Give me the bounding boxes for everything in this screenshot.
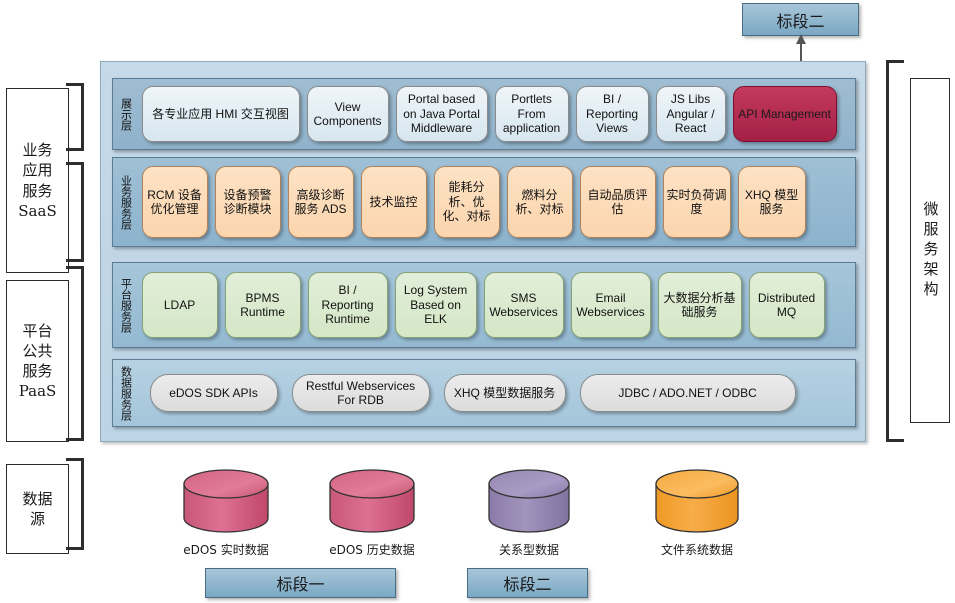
layer-platform-services: 平台服务层 LDAP BPMS Runtime BI / Reporting R… <box>112 262 856 348</box>
node-bigdata-analysis-base-service[interactable]: 大数据分析基础服务 <box>658 272 742 338</box>
node-hmi-interactive-view[interactable]: 各专业应用 HMI 交互视图 <box>142 86 300 142</box>
node-rcm-equipment-optimization[interactable]: RCM 设备优化管理 <box>142 166 208 238</box>
bottom-tag-bid-section-two: 标段二 <box>467 568 588 598</box>
cat-line: 平台 <box>19 321 57 341</box>
node-ldap[interactable]: LDAP <box>142 272 218 338</box>
layer-presentation: 展示层 各专业应用 HMI 交互视图 View Components Porta… <box>112 78 856 150</box>
bottom-tag-one-label: 标段一 <box>276 571 324 595</box>
cat-line: 业务 <box>18 140 56 160</box>
cat-line: 服务 <box>19 361 57 381</box>
layer-platform-services-label: 平台服务层 <box>120 278 132 333</box>
layer-business-services-label: 业务服务层 <box>120 175 132 230</box>
node-edos-sdk-apis[interactable]: eDOS SDK APIs <box>150 374 278 412</box>
category-business-app-services-label: 业务 应用 服务 SaaS <box>18 140 56 221</box>
node-automatic-quality-assessment[interactable]: 自动品质评估 <box>580 166 656 238</box>
cylinder-edos-history-data[interactable] <box>328 468 416 536</box>
bracket-microservice <box>886 60 904 442</box>
cat-line: 源 <box>22 509 52 529</box>
bracket-platform <box>66 266 84 441</box>
node-distributed-mq[interactable]: Distributed MQ <box>749 272 825 338</box>
node-jdbc-adonet-odbc[interactable]: JDBC / ADO.NET / ODBC <box>580 374 796 412</box>
node-email-webservices[interactable]: Email Webservices <box>571 272 651 338</box>
node-portal-java-middleware[interactable]: Portal based on Java Portal Middleware <box>396 86 488 142</box>
bracket-business <box>66 162 84 262</box>
node-equipment-early-warning-diagnosis[interactable]: 设备预警诊断模块 <box>215 166 281 238</box>
cat-line: SaaS <box>18 201 56 221</box>
bracket-presentation <box>66 83 84 151</box>
node-log-system-elk[interactable]: Log System Based on ELK <box>395 272 477 338</box>
node-fuel-analysis-benchmark[interactable]: 燃料分析、对标 <box>507 166 573 238</box>
category-business-app-services: 业务 应用 服务 SaaS <box>6 88 69 273</box>
node-sms-webservices[interactable]: SMS Webservices <box>484 272 564 338</box>
cat-line: 应用 <box>18 160 56 180</box>
node-advanced-diagnostic-ads[interactable]: 高级诊断服务 ADS <box>288 166 354 238</box>
cylinder-file-system-data[interactable] <box>654 468 740 536</box>
node-technical-monitoring[interactable]: 技术监控 <box>361 166 427 238</box>
layer-presentation-nodes: 各专业应用 HMI 交互视图 View Components Portal ba… <box>136 79 855 149</box>
layer-business-services: 业务服务层 RCM 设备优化管理 设备预警诊断模块 高级诊断服务 ADS 技术监… <box>112 157 856 247</box>
cylinder-edos-realtime-data[interactable] <box>182 468 270 536</box>
architecture-main-panel: 展示层 各专业应用 HMI 交互视图 View Components Porta… <box>100 61 866 442</box>
layer-data-services: 数据服务层 eDOS SDK APIs Restful Webservices … <box>112 359 856 427</box>
bottom-tag-bid-section-one: 标段一 <box>205 568 396 598</box>
node-xhq-model-service[interactable]: XHQ 模型服务 <box>738 166 806 238</box>
microservice-architecture-label: 微服务架构 <box>923 201 938 301</box>
layer-presentation-label: 展示层 <box>120 98 132 131</box>
node-view-components[interactable]: View Components <box>307 86 389 142</box>
cylinder-edos-realtime-data-label: eDOS 实时数据 <box>160 541 292 558</box>
top-tag-bid-section-two: 标段二 <box>742 3 859 36</box>
layer-data-services-nodes: eDOS SDK APIs Restful Webservices For RD… <box>136 360 855 426</box>
layer-platform-services-nodes: LDAP BPMS Runtime BI / Reporting Runtime… <box>136 263 855 347</box>
node-js-libs-angular-react[interactable]: JS Libs Angular / React <box>656 86 726 142</box>
bracket-datasource <box>66 458 84 550</box>
node-xhq-model-data-service[interactable]: XHQ 模型数据服务 <box>444 374 566 412</box>
category-data-sources-label: 数据 源 <box>22 489 52 530</box>
cylinder-edos-history-data-label: eDOS 历史数据 <box>306 541 438 558</box>
node-realtime-load-dispatch[interactable]: 实时负荷调度 <box>663 166 731 238</box>
node-bi-reporting-runtime[interactable]: BI / Reporting Runtime <box>308 272 388 338</box>
microservice-architecture-box: 微服务架构 <box>910 78 950 423</box>
node-bpms-runtime[interactable]: BPMS Runtime <box>225 272 301 338</box>
cat-line: 公共 <box>19 341 57 361</box>
cylinder-file-system-data-label: 文件系统数据 <box>630 541 764 558</box>
node-bi-reporting-views[interactable]: BI / Reporting Views <box>576 86 649 142</box>
bottom-tag-two-label: 标段二 <box>503 571 551 595</box>
category-platform-public-services-label: 平台 公共 服务 PaaS <box>19 321 57 402</box>
category-platform-public-services: 平台 公共 服务 PaaS <box>6 280 69 442</box>
cat-line: PaaS <box>19 381 57 401</box>
node-portlets-from-application[interactable]: Portlets From application <box>495 86 569 142</box>
layer-business-services-nodes: RCM 设备优化管理 设备预警诊断模块 高级诊断服务 ADS 技术监控 能耗分析… <box>136 158 855 246</box>
cylinder-relational-data[interactable] <box>487 468 571 536</box>
node-api-management[interactable]: API Management <box>733 86 837 142</box>
cat-line: 数据 <box>22 489 52 509</box>
category-data-sources: 数据 源 <box>6 464 69 554</box>
cat-line: 服务 <box>18 181 56 201</box>
node-energy-analysis-optimization[interactable]: 能耗分析、优化、对标 <box>434 166 500 238</box>
layer-data-services-label: 数据服务层 <box>120 366 132 421</box>
node-restful-webservices-rdb[interactable]: Restful Webservices For RDB <box>292 374 430 412</box>
top-tag-label: 标段二 <box>776 8 824 32</box>
cylinder-relational-data-label: 关系型数据 <box>466 541 592 558</box>
